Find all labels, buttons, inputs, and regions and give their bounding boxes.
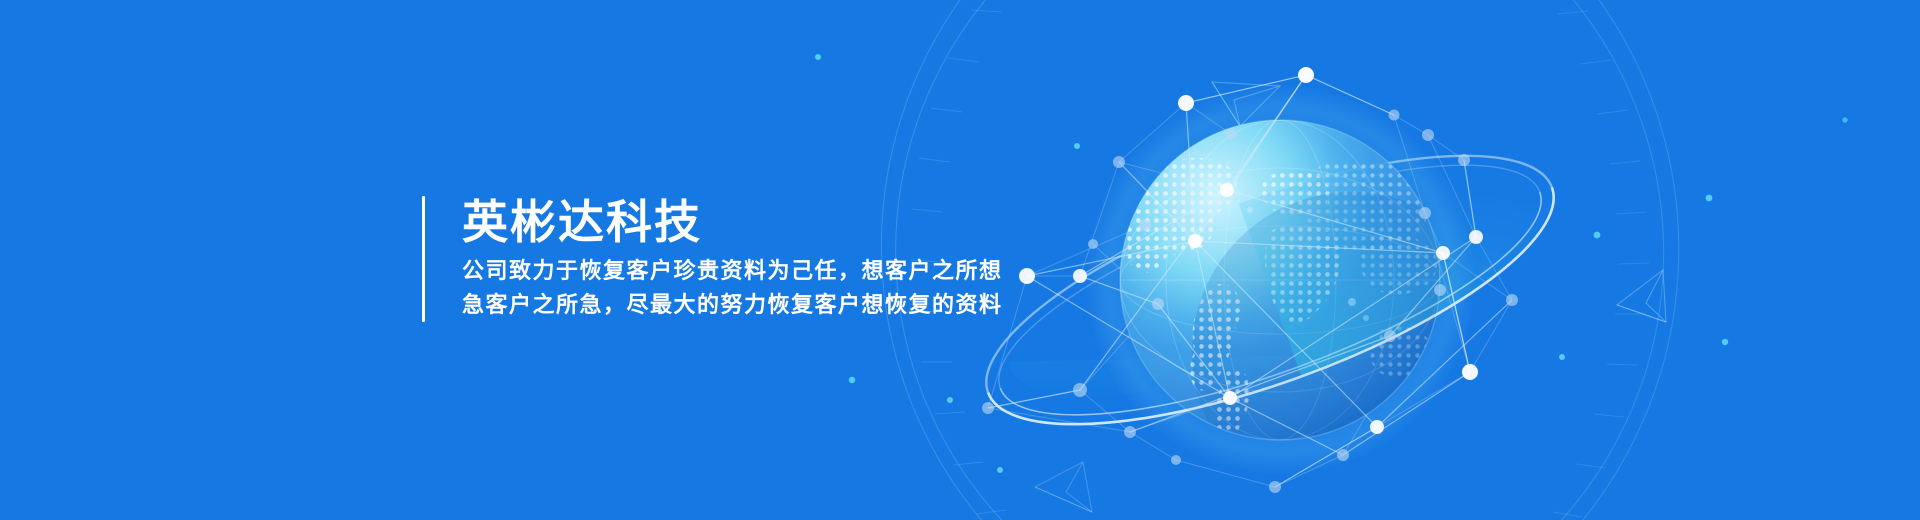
gauge-arc-right (1520, 0, 1679, 520)
mesh-lines-back (988, 75, 1512, 487)
accent-bar (422, 196, 425, 322)
page-title: 英彬达科技 (462, 196, 1003, 248)
hero-banner: 英彬达科技 公司致力于恢复客户珍贵资料为己任，想客户之所想 急客户之所急，尽最大… (0, 0, 1920, 520)
hero-text-block: 英彬达科技 公司致力于恢复客户珍贵资料为己任，想客户之所想 急客户之所急，尽最大… (422, 196, 1003, 322)
wire-triangle-bottom-icon (1035, 462, 1092, 512)
orbit-ring-front (957, 101, 1584, 479)
hero-subtitle-line-1: 公司致力于恢复客户珍贵资料为己任，想客户之所想 (462, 254, 1003, 288)
hero-subtitle-line-2: 急客户之所急，尽最大的努力恢复客户想恢复的资料 (462, 288, 1003, 322)
mesh-nodes (982, 67, 1518, 493)
wire-triangle-right-icon (1617, 270, 1666, 322)
wire-triangle-top-icon (1212, 82, 1280, 126)
orbit-ring-back (957, 101, 1584, 479)
continent-shapes (1123, 158, 1437, 441)
mesh-lines-front (988, 75, 1512, 487)
network-globe (1084, 84, 1512, 512)
hero-text-column: 英彬达科技 公司致力于恢复客户珍贵资料为己任，想客户之所想 急客户之所急，尽最大… (462, 196, 1003, 322)
